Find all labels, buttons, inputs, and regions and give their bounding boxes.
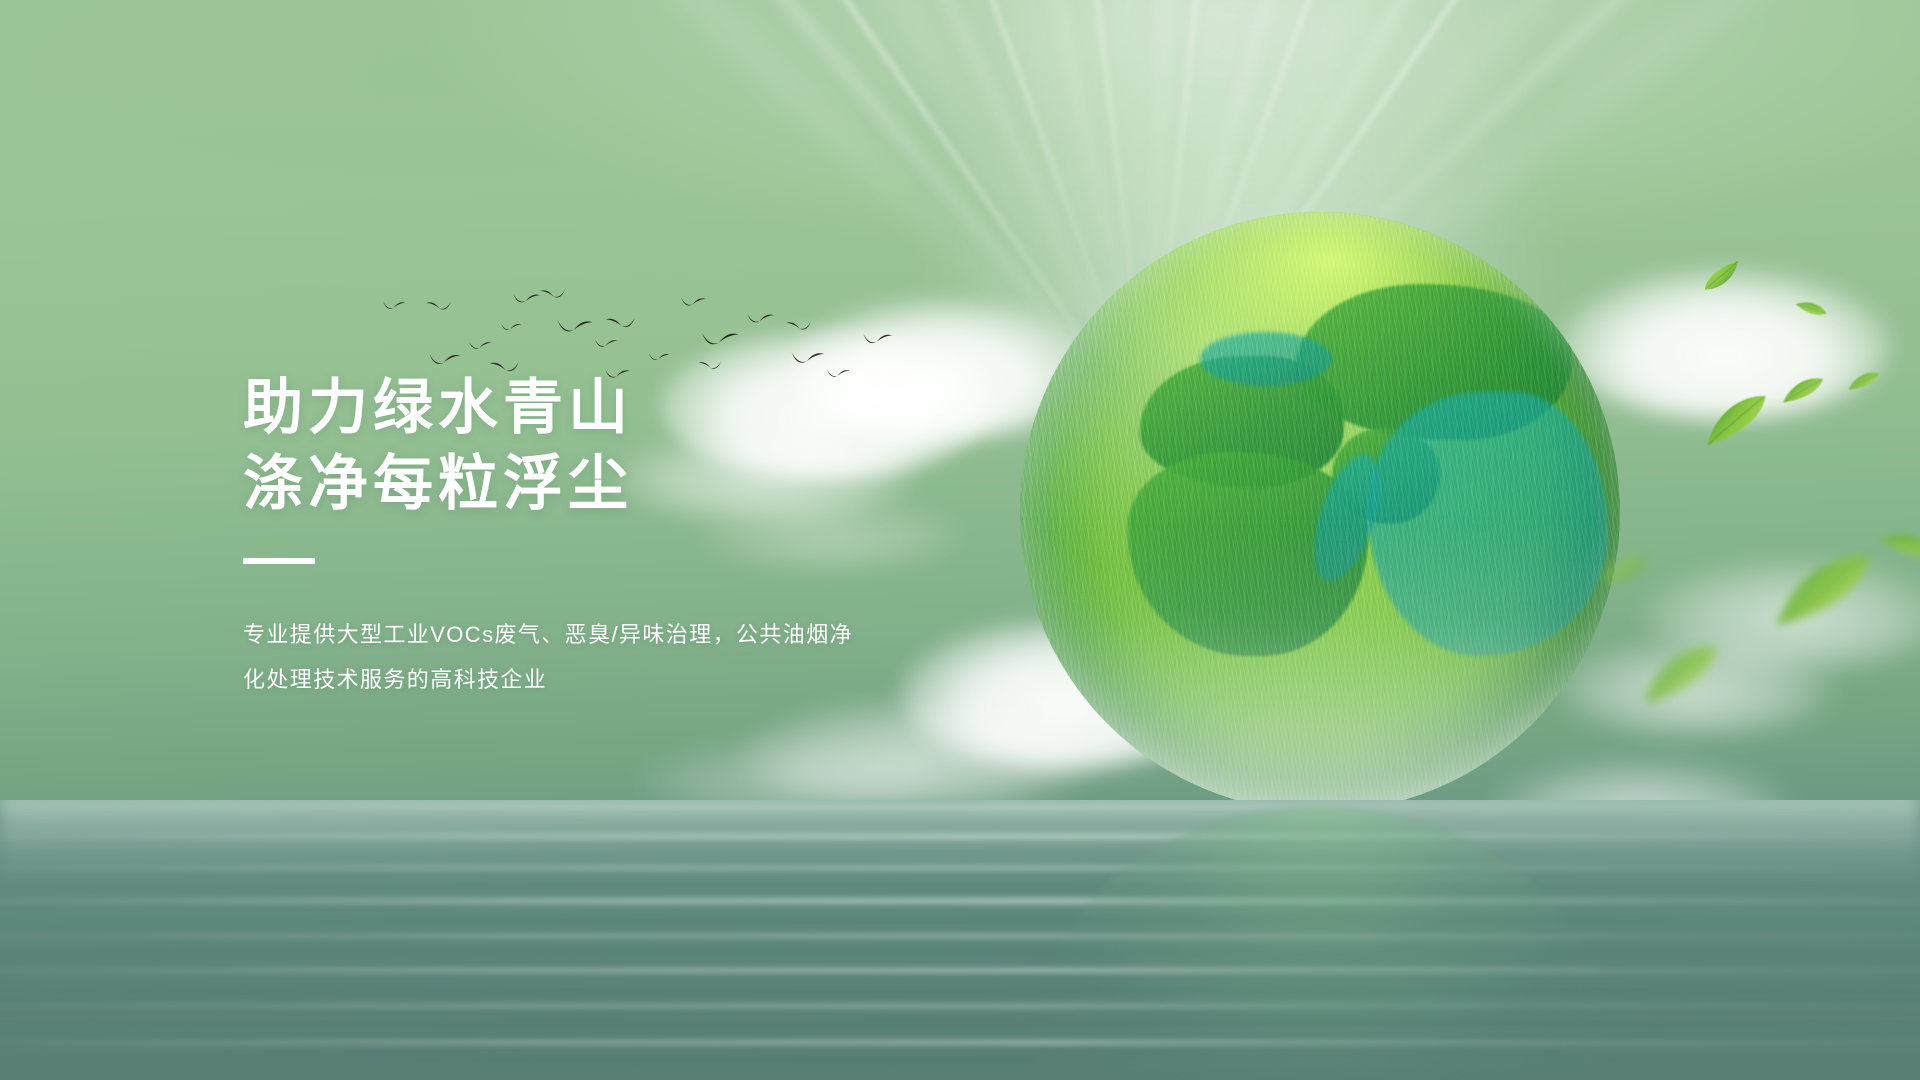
headline-line-1: 助力绿水青山 — [243, 370, 963, 446]
water-ripple-streak — [0, 898, 1920, 904]
leaf-icon — [1755, 535, 1884, 635]
water-ripple-streak — [0, 952, 1920, 955]
leaf-icon — [1776, 370, 1828, 407]
bird-icon — [790, 350, 827, 369]
globe-sphere — [1020, 212, 1620, 812]
water-ripple-streak — [0, 1022, 1920, 1025]
globe-rim-light — [1020, 212, 1620, 812]
leaf-icon — [1698, 257, 1747, 297]
bird-icon — [424, 300, 452, 314]
water-ripple-streak — [0, 834, 1920, 839]
bird-icon — [862, 332, 894, 349]
bird-icon — [604, 316, 636, 333]
leaf-icon — [1794, 293, 1831, 320]
hero-banner: 助力绿水青山 涤净每粒浮尘 专业提供大型工业VOCs废气、恶臭/异味治理，公共油… — [0, 0, 1920, 1080]
water-ripple-streak — [0, 934, 1920, 938]
reflective-water-surface — [0, 800, 1920, 1080]
subtitle-line-1: 专业提供大型工业VOCs废气、恶臭/异味治理，公共油烟净 — [243, 612, 963, 657]
water-ripple-streak — [0, 1004, 1920, 1008]
bird-icon — [700, 330, 741, 352]
water-ripple-streak — [0, 1040, 1920, 1045]
leaf-icon — [1878, 520, 1920, 564]
bird-icon — [500, 322, 523, 334]
leaf-icon — [1844, 366, 1883, 392]
bird-icon — [512, 292, 542, 308]
bird-icon — [648, 352, 671, 364]
bird-icon — [382, 300, 407, 313]
water-ripple-streak — [0, 988, 1920, 991]
subtitle-line-2: 化处理技术服务的高科技企业 — [243, 657, 963, 702]
water-ripple-streak — [0, 822, 1920, 824]
water-ripple-streak — [0, 806, 1920, 809]
bird-icon — [784, 320, 812, 334]
water-ripple-streak — [0, 968, 1920, 973]
water-ripple-streak — [0, 866, 1920, 870]
water-ripple-streak — [0, 852, 1920, 855]
green-earth-globe — [1020, 212, 1620, 812]
bird-icon — [538, 288, 566, 302]
hero-text-block: 助力绿水青山 涤净每粒浮尘 专业提供大型工业VOCs废气、恶臭/异味治理，公共油… — [243, 370, 963, 702]
bird-icon — [556, 318, 595, 338]
bird-icon — [428, 352, 463, 370]
bird-icon — [594, 338, 619, 351]
bird-icon — [468, 340, 493, 353]
water-ripple-streak — [0, 884, 1920, 886]
cloud-right — [1640, 560, 1920, 670]
leaf-icon — [1692, 382, 1776, 451]
water-ripple-streak — [0, 918, 1920, 921]
bird-icon — [680, 296, 708, 310]
leaf-icon — [1626, 629, 1729, 712]
headline-line-2: 涤净每粒浮尘 — [243, 446, 963, 522]
title-divider — [243, 558, 315, 564]
water-ripple-streak — [0, 1058, 1920, 1061]
bird-icon — [746, 312, 776, 328]
